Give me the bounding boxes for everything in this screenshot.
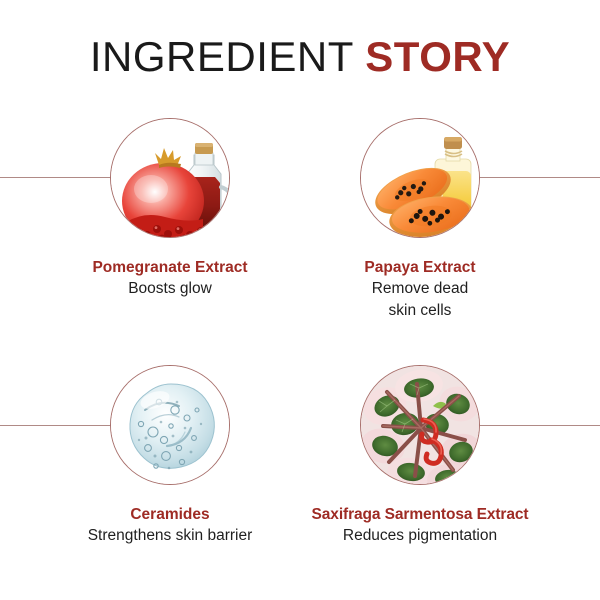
ingredient-name: Ceramides [40,505,300,524]
ingredient-benefit-line2: skin cells [290,301,550,321]
ingredient-benefit: Remove dead [290,279,550,299]
ingredient-card-saxifraga: Saxifraga Sarmentosa Extract Reduces pig… [290,365,550,546]
ingredient-image-wrap-ceramides [110,365,230,485]
ingredient-name: Saxifraga Sarmentosa Extract [290,505,550,524]
ingredient-benefit: Boosts glow [40,279,300,299]
saxifraga-plant-photo-icon [360,365,480,485]
ingredient-image-wrap-pomegranate [110,118,230,238]
page-title: INGREDIENT STORY [0,34,600,80]
page-title-bold: STORY [365,33,510,80]
ingredient-benefit: Strengthens skin barrier [40,526,300,546]
ingredient-benefit: Reduces pigmentation [290,526,550,546]
ingredient-caption-pomegranate: Pomegranate Extract Boosts glow [40,258,300,299]
papaya-photo-icon [360,118,480,238]
ingredient-card-papaya: Papaya Extract Remove dead skin cells [290,118,550,321]
gel-droplet-photo-icon [110,365,230,485]
ingredient-card-pomegranate: Pomegranate Extract Boosts glow [40,118,300,299]
ingredient-image-wrap-saxifraga [360,365,480,485]
ingredient-caption-papaya: Papaya Extract Remove dead skin cells [290,258,550,321]
page-title-light: INGREDIENT [90,33,365,80]
pomegranate-photo-icon [110,118,230,238]
ingredient-name: Papaya Extract [290,258,550,277]
ingredient-name: Pomegranate Extract [40,258,300,277]
ingredient-image-wrap-papaya [360,118,480,238]
ingredient-caption-saxifraga: Saxifraga Sarmentosa Extract Reduces pig… [290,505,550,546]
ingredient-story-infographic: INGREDIENT STORY [0,0,600,600]
ingredient-card-ceramides: Ceramides Strengthens skin barrier [40,365,300,546]
ingredient-caption-ceramides: Ceramides Strengthens skin barrier [40,505,300,546]
